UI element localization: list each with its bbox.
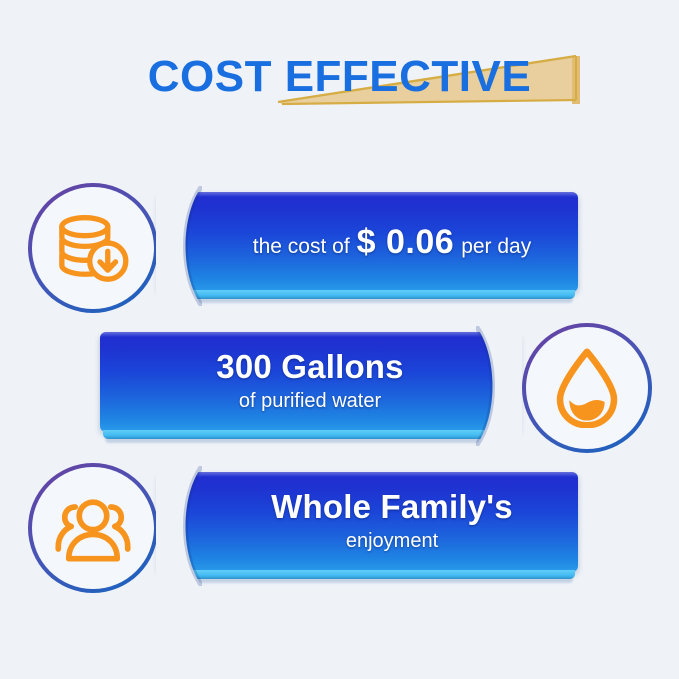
feature-row-whole-family: Whole Family's enjoyment — [0, 458, 679, 598]
group-people-icon — [51, 489, 135, 567]
page-title: COST EFFECTIVE — [0, 48, 679, 106]
banner-bottom-lip — [161, 570, 575, 579]
icon-badge-coin-stack — [30, 185, 156, 311]
banner-bottom-lip — [103, 430, 517, 439]
feature-row-cost-per-day: the cost of $ 0.06 per day — [0, 178, 679, 318]
banner-surface — [158, 472, 578, 572]
page-title-block: COST EFFECTIVE — [0, 48, 679, 110]
banner-bottom-lip — [161, 290, 575, 299]
feature-banner-cost-per-day[interactable]: the cost of $ 0.06 per day — [158, 192, 578, 304]
icon-badge-group-people — [30, 465, 156, 591]
feature-banner-whole-family[interactable]: Whole Family's enjoyment — [158, 472, 578, 584]
banner-surface — [100, 332, 520, 432]
feature-banner-gallons[interactable]: 300 Gallons of purified water — [100, 332, 520, 444]
icon-badge-water-drop — [524, 325, 650, 451]
water-drop-icon — [550, 348, 624, 428]
feature-row-gallons: 300 Gallons of purified water — [0, 318, 679, 458]
banner-surface — [158, 192, 578, 292]
coin-stack-down-arrow-icon — [52, 207, 134, 289]
